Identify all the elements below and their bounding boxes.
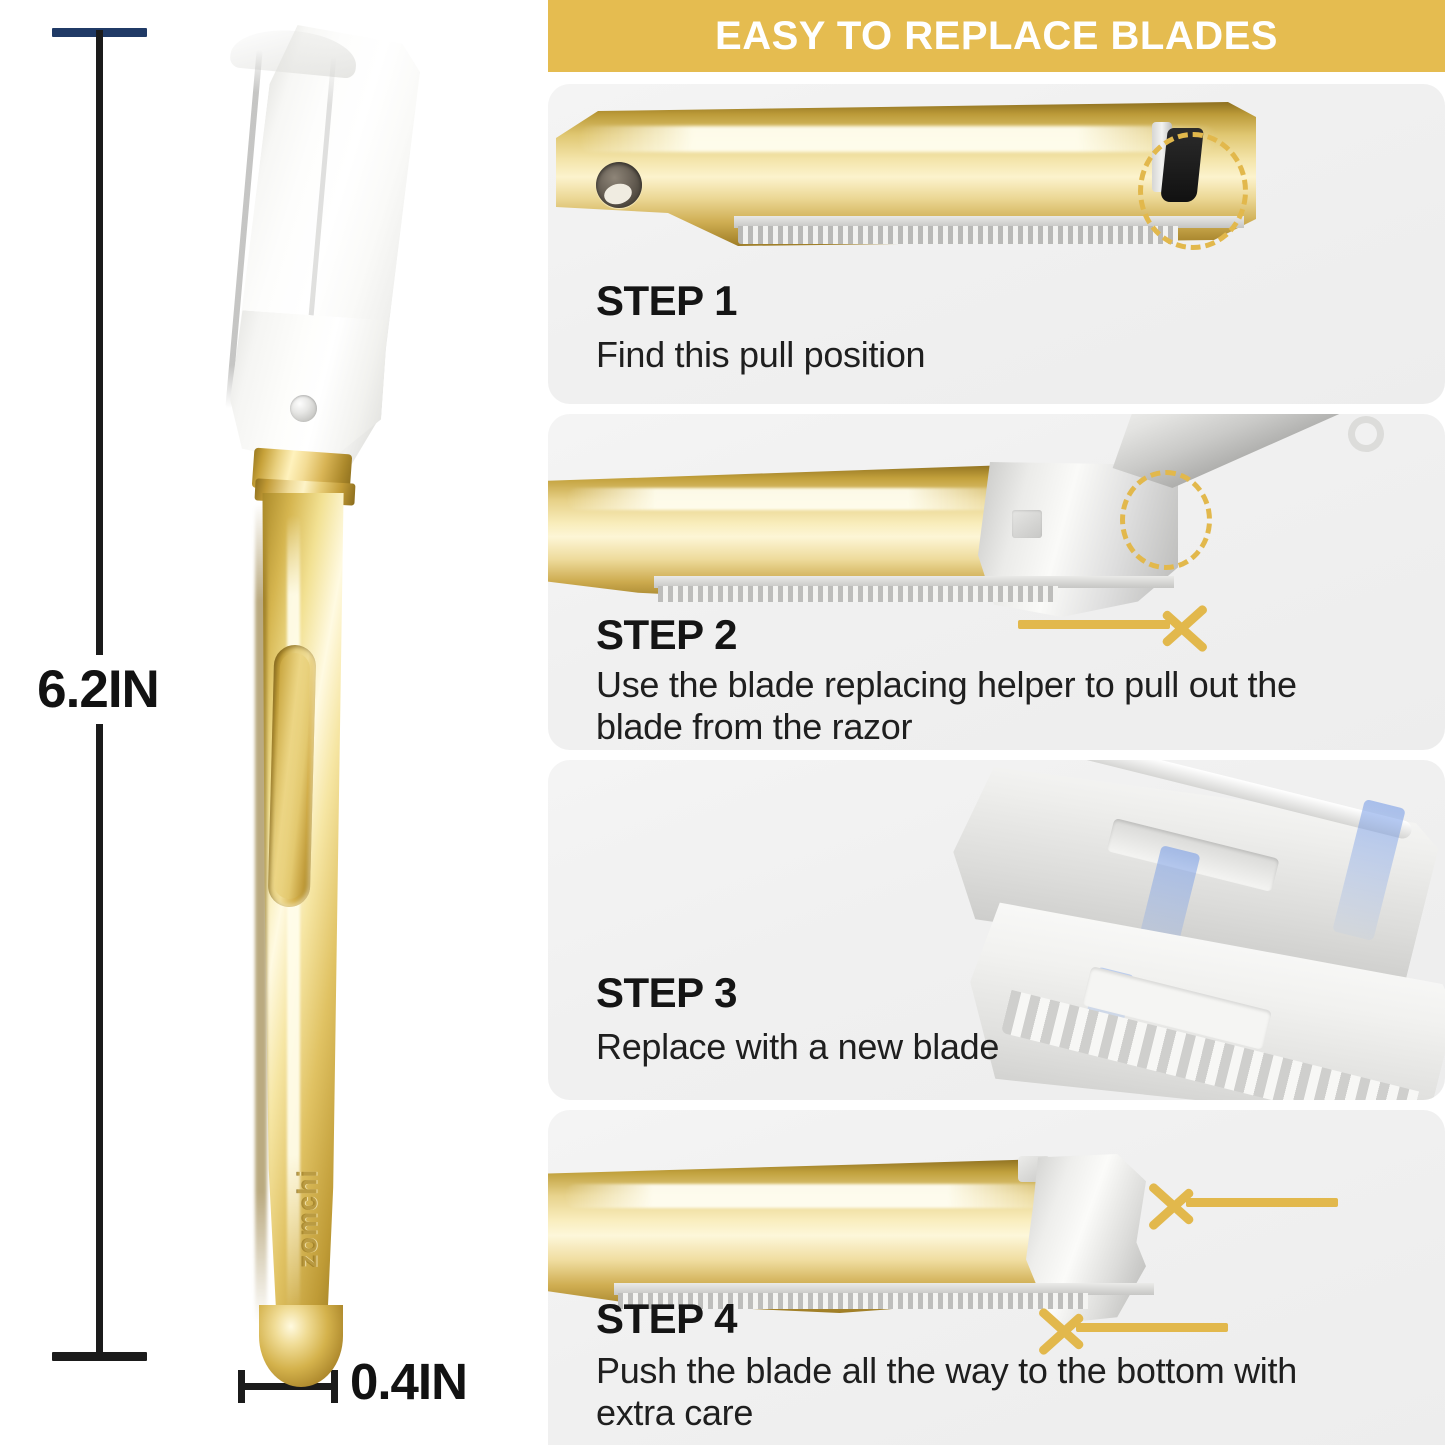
step-3-title: STEP 3: [596, 972, 737, 1014]
step-4-description: Push the blade all the way to the bottom…: [596, 1350, 1336, 1435]
step-1-description: Find this pull position: [596, 334, 1296, 376]
blade-serration: [738, 226, 1178, 244]
razor-head-highlight: [566, 488, 1016, 510]
banner-title: EASY TO REPLACE BLADES: [715, 16, 1278, 56]
razor-product-image: zomchi: [195, 15, 425, 1375]
step-4-title: STEP 4: [596, 1298, 737, 1340]
step-card-2: STEP 2 Use the blade replacing helper to…: [548, 414, 1445, 750]
arrow-head: [1164, 598, 1212, 650]
height-dimension-label: 6.2IN: [10, 655, 186, 724]
dashed-highlight-circle: [1120, 470, 1212, 570]
arrow-shaft: [1186, 1198, 1338, 1207]
step-card-1: STEP 1 Find this pull position: [548, 84, 1445, 404]
header-banner: EASY TO REPLACE BLADES: [548, 0, 1445, 72]
product-dimension-panel: 6.2IN 0.4IN zomchi: [0, 0, 540, 1445]
arrow-shaft: [1076, 1323, 1228, 1332]
razor-head-hole: [290, 395, 317, 422]
arrow-head: [1034, 1301, 1082, 1353]
brand-engraving: zomchi: [293, 1109, 324, 1329]
arrow-shaft: [1018, 620, 1170, 629]
pull-direction-arrow-right: [1018, 592, 1218, 658]
razor-head-highlight: [578, 126, 1218, 152]
step-3-description: Replace with a new blade: [596, 1026, 1116, 1068]
handle-left-shadow: [255, 503, 267, 1323]
step-card-3: STEP 3 Replace with a new blade: [548, 760, 1445, 1100]
instructions-panel: EASY TO REPLACE BLADES STEP 1 Find this …: [548, 0, 1445, 1445]
push-direction-arrow-top: [1138, 1170, 1338, 1236]
step-2-description: Use the blade replacing helper to pull o…: [596, 664, 1336, 749]
blade-cartridge-tab: [1012, 510, 1042, 538]
arrow-head: [1144, 1176, 1192, 1228]
step-1-title: STEP 1: [596, 280, 737, 322]
helper-tool-hole: [1343, 414, 1390, 457]
blade-serration: [658, 586, 1058, 602]
step-card-4: STEP 4 Push the blade all the way to the…: [548, 1110, 1445, 1445]
height-dimension-bottom-cap: [52, 1352, 147, 1361]
dashed-highlight-circle: [1138, 132, 1248, 250]
infographic-page: 6.2IN 0.4IN zomchi EASY: [0, 0, 1445, 1445]
cap-lower-section: [226, 310, 388, 470]
razor-head-highlight: [564, 1184, 1056, 1208]
step-2-title: STEP 2: [596, 614, 737, 656]
